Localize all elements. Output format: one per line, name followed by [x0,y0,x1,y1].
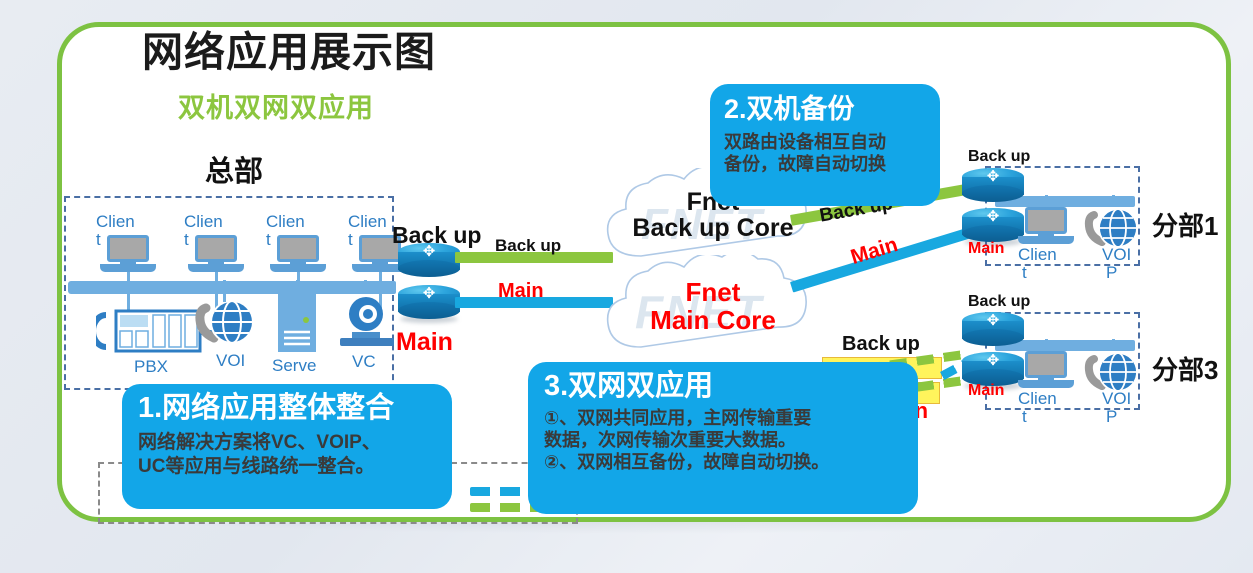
hq-network-bus [74,281,396,294]
hq-device-pbx: PBX [96,305,206,362]
hq-client-3: Clien t [270,235,326,275]
hq-router-main-label: Main [396,328,453,357]
link-branch3-backup-label: Back up [842,333,920,356]
page-title: 网络应用展示图 [142,30,436,75]
hq-client-2-label2: t [184,230,189,250]
cloud-main-core: FNET Fnet Main Core [595,255,831,367]
hq-device-voi: VOI [192,294,262,353]
server-icon [274,294,320,356]
callout-2[interactable]: 2.双机备份 双路由设备相互自动 备份，故障自动切换 [710,84,940,206]
hq-device-server: Serve [274,294,320,361]
callout-2-heading: 2.双机备份 [724,94,926,124]
voi-link [223,280,226,302]
hq-client-1-label: Clien [96,212,135,232]
branch-1-router-main-label: Main [968,240,1004,258]
laptop-icon [188,235,244,275]
callout-1[interactable]: 1.网络应用整体整合 网络解决方案将VC、VOIP、 UC等应用与线路统一整合。 [122,384,452,509]
branch-3-router-main-label: Main [968,382,1004,400]
hq-device-pbx-label: PBX [134,357,168,377]
pbx-icon [96,305,206,357]
video-camera-icon [336,294,398,352]
vc-link [364,280,367,294]
page-subtitle: 双机双网双应用 [178,86,374,125]
hq-client-4-label: Clien [348,212,387,232]
branch-3-name: 分部3 [1152,350,1218,387]
callout-3-body-2: 数据，次网传输次重要大数据。 [544,430,902,452]
laptop-icon [1018,207,1074,247]
branch-1-router-main[interactable]: ✥ [962,208,1024,242]
callout-1-heading: 1.网络应用整体整合 [138,392,436,424]
laptop-icon [100,235,156,275]
branch-1-client-label2: t [1022,263,1027,283]
hq-device-vc: VC [336,294,398,357]
callout-2-body-2: 备份，故障自动切换 [724,154,926,176]
link-hq-backup-label: Back up [495,236,561,256]
diagram-canvas: 网络应用展示图 双机双网双应用 总部 Clien t Clien t Clien… [0,0,1253,573]
hq-device-voi-label: VOI [216,351,245,371]
branch-1-router-backup[interactable]: ✥ [962,168,1024,202]
router-icon: ✥ [398,285,460,319]
hq-client-1: Clien t [100,235,156,275]
callout-1-body-1: 网络解决方案将VC、VOIP、 [138,431,436,454]
hq-client-2-label: Clien [184,212,223,232]
hq-client-2: Clien t [188,235,244,275]
branch-1-client: Clien t [1018,207,1074,247]
router-icon: ✥ [962,352,1024,386]
globe-phone-icon [192,294,262,348]
branch-3-router-backup[interactable]: ✥ [962,312,1024,346]
hq-client-3-label: Clien [266,212,305,232]
hq-client-1-label2: t [96,230,101,250]
router-icon: ✥ [962,168,1024,202]
branch-3-voip-label: VOI [1102,389,1131,409]
branch-1-voip-label: VOI [1102,245,1131,265]
branch-3-client-label: Clien [1018,389,1057,409]
branch-3-client-label2: t [1022,407,1027,427]
callout-3-body-3: ②、双网相互备份，故障自动切换。 [544,452,902,474]
laptop-icon [270,235,326,275]
branch-3-router-backup-label: Back up [968,293,1030,311]
hq-client-3-label2: t [266,230,271,250]
globe-phone-icon [1082,347,1144,395]
hq-device-vc-label: VC [352,352,376,372]
branch-1-name: 分部1 [1152,206,1218,243]
server-link [296,280,299,296]
branch-1-client-label: Clien [1018,245,1057,265]
callout-1-body-2: UC等应用与线路统一整合。 [138,455,436,478]
hq-router-backup-label: Back up [392,222,481,249]
laptop-icon [1018,351,1074,391]
hq-client-4-label2: t [348,230,353,250]
globe-phone-icon [1082,203,1144,251]
callout-3-body-1: ①、双网共同应用，主网传输重要 [544,408,902,430]
branch-1-router-backup-label: Back up [968,148,1030,166]
router-icon: ✥ [962,312,1024,346]
callout-3[interactable]: 3.双网双应用 ①、双网共同应用，主网传输重要 数据，次网传输次重要大数据。 ②… [528,362,918,514]
router-icon: ✥ [962,208,1024,242]
branch-3-client: Clien t [1018,351,1074,391]
branch-3-router-main[interactable]: ✥ [962,352,1024,386]
hq-router-main[interactable]: ✥ [398,285,460,319]
branch-3-voip-label2: P [1106,407,1117,427]
headquarters-title: 总部 [205,148,263,190]
cloud-main-core-line2: Main Core [595,307,831,334]
hq-device-server-label: Serve [272,356,316,376]
link-hq-main-label: Main [498,280,544,303]
branch-1-voip-label2: P [1106,263,1117,283]
callout-2-body-1: 双路由设备相互自动 [724,132,926,154]
callout-3-heading: 3.双网双应用 [544,370,902,402]
